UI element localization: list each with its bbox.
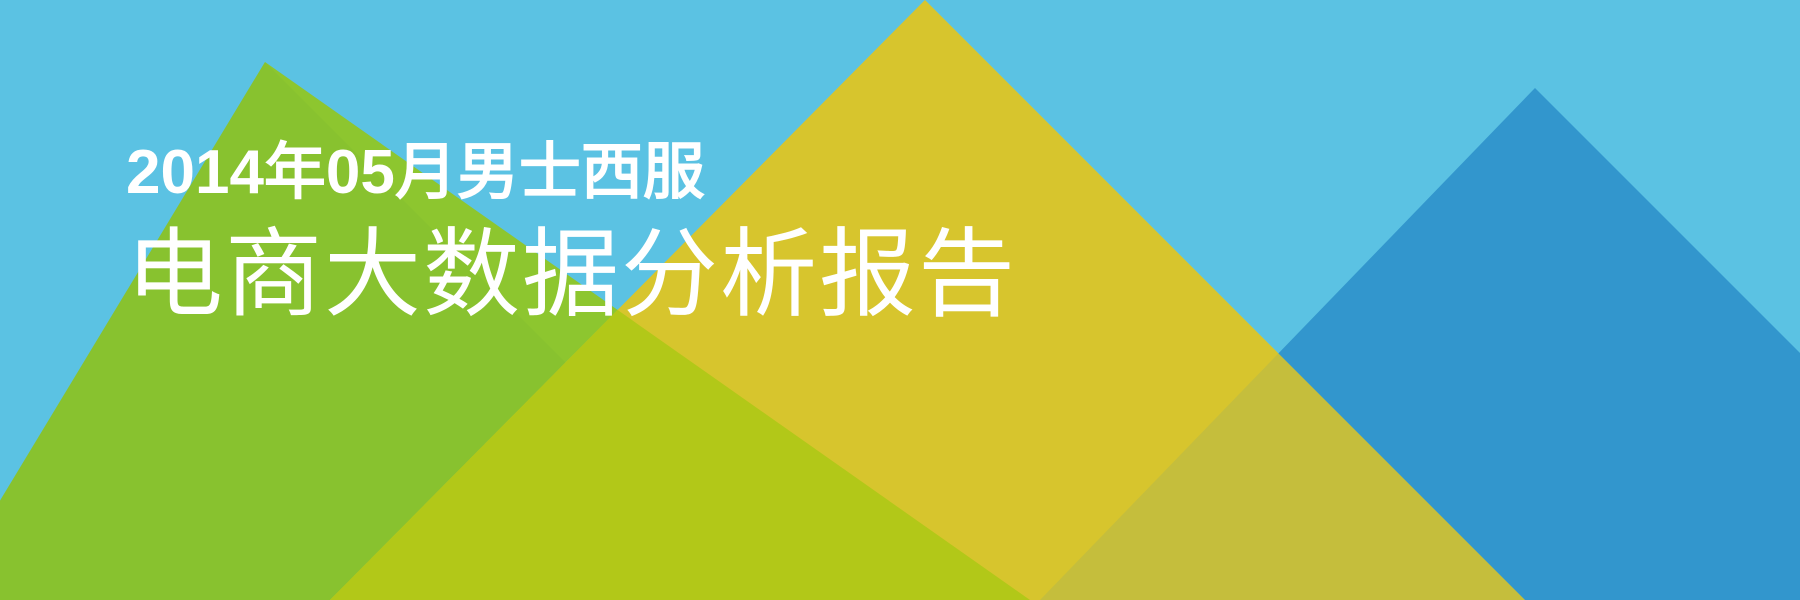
report-cover-banner: 2014年05月男士西服 电商大数据分析报告 bbox=[0, 0, 1800, 600]
background-geometric-artwork bbox=[0, 0, 1800, 600]
